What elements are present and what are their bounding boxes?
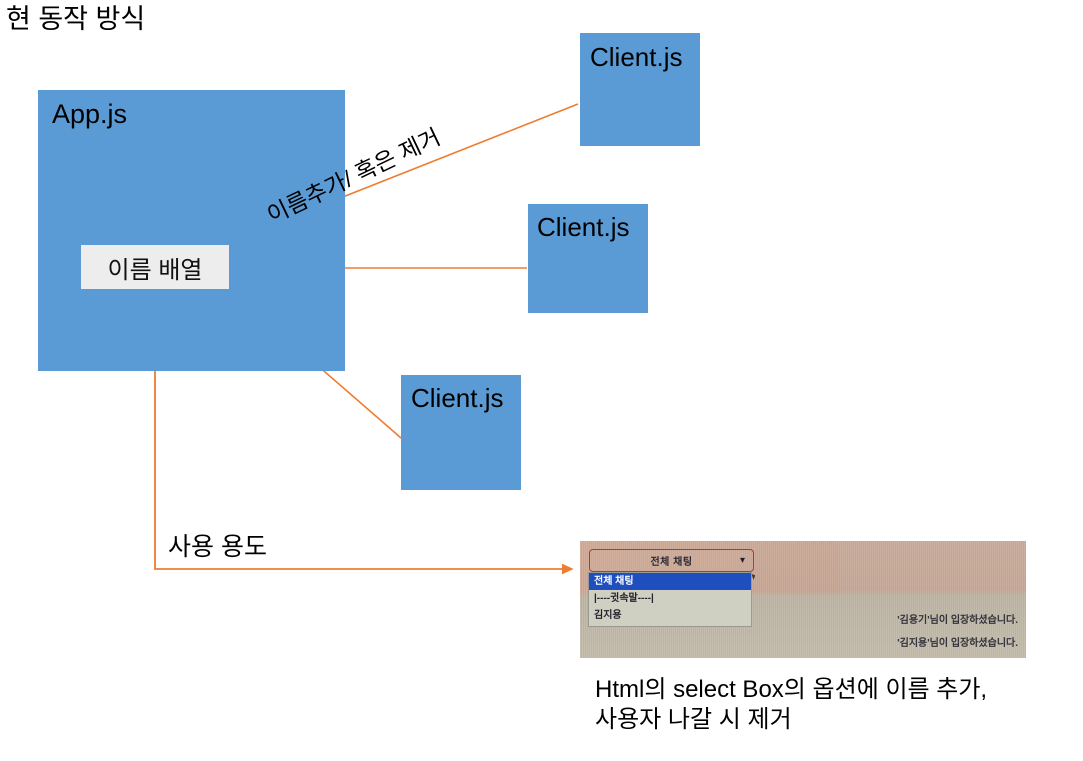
node-app-js[interactable] bbox=[38, 90, 345, 371]
select-option-2[interactable]: 김지용 bbox=[589, 607, 751, 624]
node-client-js-1-label: Client.js bbox=[590, 42, 682, 72]
embedded-screenshot-photo: 전체 채팅 ▾ 전체 채팅 |----귓속말----| 김지용 '김용기'님이 … bbox=[580, 541, 1026, 658]
chat-target-select[interactable]: 전체 채팅 ▾ bbox=[589, 549, 754, 572]
caption-line-1: Html의 select Box의 옵션에 이름 추가, bbox=[595, 675, 1065, 705]
select-option-1[interactable]: |----귓속말----| bbox=[589, 590, 751, 607]
node-client-js-3-label: Client.js bbox=[411, 383, 503, 413]
chat-message-1: '김지용'님이 입장하셨습니다. bbox=[897, 634, 1018, 649]
select-option-0[interactable]: 전체 채팅 bbox=[589, 573, 751, 590]
chat-target-select-value: 전체 채팅 bbox=[650, 553, 692, 568]
page-title: 현 동작 방식 bbox=[6, 2, 145, 36]
chevron-down-icon: ▾ bbox=[740, 555, 745, 566]
caption-block: Html의 select Box의 옵션에 이름 추가, 사용자 나갈 시 제거 bbox=[595, 675, 1065, 735]
edge-label-usage: 사용 용도 bbox=[168, 527, 267, 563]
chat-target-select-dropdown[interactable]: 전체 채팅 |----귓속말----| 김지용 bbox=[588, 572, 752, 627]
caption-line-2: 사용자 나갈 시 제거 bbox=[595, 705, 1065, 735]
chat-message-0: '김용기'님이 입장하셨습니다. bbox=[897, 611, 1018, 626]
slide-canvas: 현 동작 방식 App.js Client.js Client.js Clien… bbox=[0, 0, 1083, 761]
node-app-js-label: App.js bbox=[52, 99, 127, 129]
node-name-array-label: 이름 배열 bbox=[81, 245, 229, 289]
node-client-js-2-label: Client.js bbox=[537, 212, 629, 242]
